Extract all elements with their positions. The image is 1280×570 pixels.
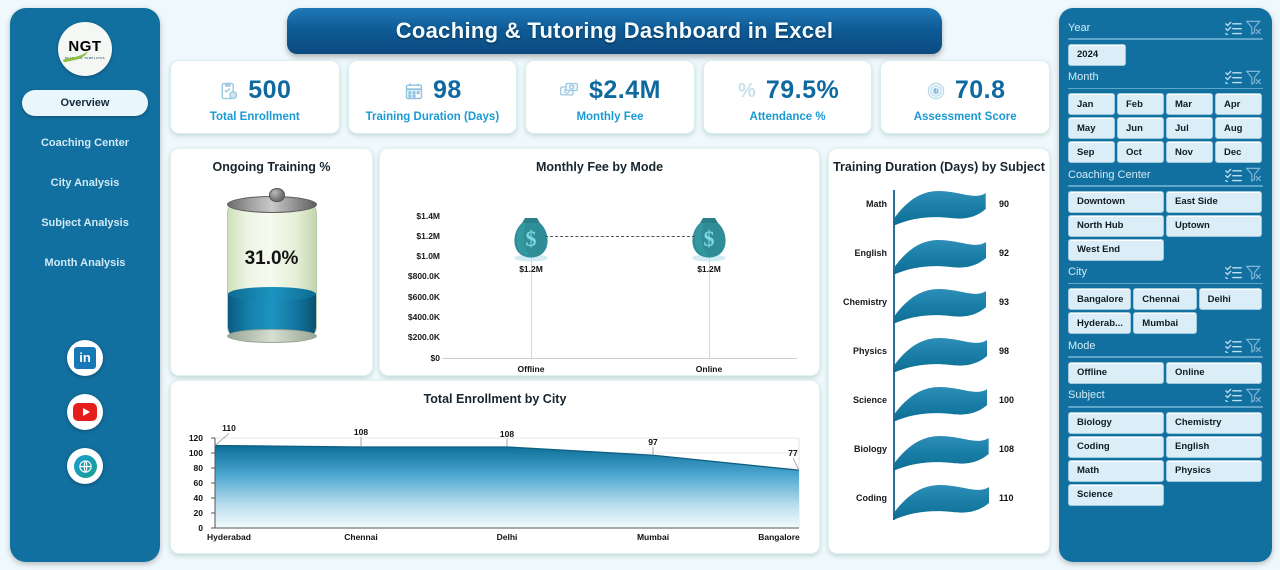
dashboard-title-bar: Coaching & Tutoring Dashboard in Excel xyxy=(287,8,942,54)
sidebar-item-coaching-center[interactable]: Coaching Center xyxy=(22,130,148,156)
page-title: Coaching & Tutoring Dashboard in Excel xyxy=(396,18,834,44)
chart-title: Ongoing Training % xyxy=(171,149,372,176)
clear-filter-icon[interactable] xyxy=(1243,264,1263,280)
y-axis-tick: 60 xyxy=(177,478,203,488)
clear-filter-icon[interactable] xyxy=(1243,167,1263,183)
city-area-chart: 020406080100120Hyderabad110Chennai108Del… xyxy=(171,408,821,548)
y-axis-tick: 0 xyxy=(177,523,203,533)
multi-select-icon[interactable] xyxy=(1223,264,1243,280)
slicer-option-mar[interactable]: Mar xyxy=(1166,93,1213,115)
sidebar-item-label: Month Analysis xyxy=(45,257,126,269)
logo-swoosh-icon xyxy=(61,45,89,62)
slicer-divider xyxy=(1068,356,1263,358)
slicer-option-delhi[interactable]: Delhi xyxy=(1199,288,1262,310)
kpi-label: Attendance % xyxy=(750,111,826,123)
data-label: 93 xyxy=(999,297,1009,307)
subject-row: Biology108 xyxy=(829,429,1051,475)
sidebar-item-city-analysis[interactable]: City Analysis xyxy=(22,170,148,196)
slicer-option-nov[interactable]: Nov xyxy=(1166,141,1213,163)
subject-row: Coding110 xyxy=(829,478,1051,524)
category-label: Biology xyxy=(854,444,887,454)
slicer-options: DowntownEast SideNorth HubUptownWest End xyxy=(1068,191,1263,261)
slicer-option-chennai[interactable]: Chennai xyxy=(1133,288,1196,310)
y-axis-tick: $800.0K xyxy=(408,271,440,281)
sidebar-item-month-analysis[interactable]: Month Analysis xyxy=(22,250,148,276)
y-axis-tick: $1.4M xyxy=(416,211,440,221)
data-label: 100 xyxy=(999,395,1014,405)
slicer-option-hyderab[interactable]: Hyderab... xyxy=(1068,312,1131,334)
slicer-divider xyxy=(1068,88,1263,90)
category-label: Coding xyxy=(856,493,887,503)
training-duration-by-subject-panel: Training Duration (Days) by Subject Math… xyxy=(828,148,1050,554)
kpi-value: 98 xyxy=(433,76,462,105)
clear-filter-icon[interactable] xyxy=(1243,20,1263,36)
slicer-header: Mode xyxy=(1068,336,1263,355)
kpi-value: 500 xyxy=(248,76,291,105)
slicer-option-aug[interactable]: Aug xyxy=(1215,117,1262,139)
chart-title: Monthly Fee by Mode xyxy=(380,149,819,176)
ribbon-bar xyxy=(893,383,987,423)
kpi-value: 79.5% xyxy=(766,76,839,105)
slicer-option-apr[interactable]: Apr xyxy=(1215,93,1262,115)
slicer-divider xyxy=(1068,406,1263,408)
category-label: Math xyxy=(866,199,887,209)
chart-title: Total Enrollment by City xyxy=(171,381,819,408)
linkedin-icon: in xyxy=(74,347,96,369)
sidebar: NGT NEXT GEN TEMPLATES Overview Coaching… xyxy=(10,8,160,562)
data-label: 110 xyxy=(999,493,1014,503)
slicer-option-jan[interactable]: Jan xyxy=(1068,93,1115,115)
slicer-title: Year xyxy=(1068,22,1223,34)
kpi-row: 500 Total Enrollment 98 Training Duratio… xyxy=(170,60,1050,134)
linkedin-button[interactable]: in xyxy=(67,340,103,376)
monthly-fee-chart: $1.4M$1.2M$1.0M$800.0K$600.0K$400.0K$200… xyxy=(380,176,821,366)
kpi-card-total-enrollment: 500 Total Enrollment xyxy=(170,60,340,134)
youtube-icon xyxy=(73,403,97,421)
x-axis-label: Hyderabad xyxy=(207,532,251,542)
kpi-label: Monthly Fee xyxy=(576,111,643,123)
slicer-title: Month xyxy=(1068,71,1223,83)
ongoing-training-panel: Ongoing Training % 31.0% xyxy=(170,148,373,376)
multi-select-icon[interactable] xyxy=(1223,387,1243,403)
y-axis-tick: $200.0K xyxy=(408,332,440,342)
category-label: Science xyxy=(853,395,887,405)
slicer-panel: Year2024MonthJanFebMarAprMayJunJulAugSep… xyxy=(1059,8,1272,562)
sidebar-item-label: City Analysis xyxy=(51,177,120,189)
ribbon-bar xyxy=(893,334,987,374)
slicer-options: JanFebMarAprMayJunJulAugSepOctNovDec xyxy=(1068,93,1263,163)
dashboard-root: NGT NEXT GEN TEMPLATES Overview Coaching… xyxy=(0,0,1280,570)
slicer-option-biology[interactable]: Biology xyxy=(1068,412,1164,434)
slicer-option-oct[interactable]: Oct xyxy=(1117,141,1164,163)
slicer-option-coding[interactable]: Coding xyxy=(1068,436,1164,458)
slicer-option-english[interactable]: English xyxy=(1166,436,1262,458)
multi-select-icon[interactable] xyxy=(1223,338,1243,354)
data-label: 108 xyxy=(500,429,514,439)
data-label: $1.2M xyxy=(519,264,543,274)
svg-text:$: $ xyxy=(526,226,537,251)
data-label: 110 xyxy=(222,423,236,433)
slicer-option-east-side[interactable]: East Side xyxy=(1166,191,1262,213)
kpi-value: 70.8 xyxy=(955,76,1006,105)
subject-row: Physics98 xyxy=(829,331,1051,377)
total-enrollment-by-city-panel: Total Enrollment by City 020406080100120… xyxy=(170,380,820,554)
slicer-header: City xyxy=(1068,263,1263,282)
kpi-label: Total Enrollment xyxy=(210,111,300,123)
y-axis-tick: 100 xyxy=(177,448,203,458)
data-label: 108 xyxy=(354,427,368,437)
clear-filter-icon[interactable] xyxy=(1243,338,1263,354)
slicer-title: Subject xyxy=(1068,389,1223,401)
chart-title: Training Duration (Days) by Subject xyxy=(829,149,1049,176)
multi-select-icon[interactable] xyxy=(1223,167,1243,183)
category-label: English xyxy=(854,248,887,258)
sidebar-item-label: Overview xyxy=(61,97,110,109)
data-label: 77 xyxy=(788,448,797,458)
kpi-card-monthly-fee: $2.4M Monthly Fee xyxy=(525,60,695,134)
calendar-icon xyxy=(403,80,425,102)
slicer-header: Year xyxy=(1068,18,1263,37)
series-line xyxy=(545,236,695,237)
website-button[interactable] xyxy=(67,448,103,484)
y-axis-tick: 20 xyxy=(177,508,203,518)
slicer-option-may[interactable]: May xyxy=(1068,117,1115,139)
percent-icon: % xyxy=(736,80,758,102)
ribbon-bar xyxy=(893,236,986,276)
slicer-title: Mode xyxy=(1068,340,1223,352)
multi-select-icon[interactable] xyxy=(1223,20,1243,36)
x-axis-label: Mumbai xyxy=(637,532,669,542)
ribbon-bar xyxy=(893,481,989,521)
kpi-label: Assessment Score xyxy=(914,111,1017,123)
youtube-button[interactable] xyxy=(67,394,103,430)
x-axis-label: Bangalore xyxy=(758,532,800,542)
slicer-option-jun[interactable]: Jun xyxy=(1117,117,1164,139)
kpi-card-training-duration: 98 Training Duration (Days) xyxy=(348,60,518,134)
slicer-option-math[interactable]: Math xyxy=(1068,460,1164,482)
data-label: 97 xyxy=(648,437,657,447)
slicer-divider xyxy=(1068,38,1263,40)
slicer-header: Month xyxy=(1068,68,1263,87)
gauge-value-label: 31.0% xyxy=(227,248,317,270)
slicer-header: Subject xyxy=(1068,386,1263,405)
cylinder-gauge: 31.0% xyxy=(227,194,317,342)
y-axis-tick: $0 xyxy=(431,353,440,363)
assessment-icon xyxy=(925,80,947,102)
monthly-fee-by-mode-panel: Monthly Fee by Mode $1.4M$1.2M$1.0M$800.… xyxy=(379,148,820,376)
slicer-options: 2024 xyxy=(1068,44,1263,66)
slicer-option-north-hub[interactable]: North Hub xyxy=(1068,215,1164,237)
money-icon xyxy=(559,80,581,102)
data-label: 108 xyxy=(999,444,1014,454)
y-axis-tick: 40 xyxy=(177,493,203,503)
slicer-options: BiologyChemistryCodingEnglishMathPhysics… xyxy=(1068,412,1263,506)
cylinder-knob-icon xyxy=(269,188,285,202)
y-axis-tick: $400.0K xyxy=(408,312,440,322)
x-axis-label: Online xyxy=(696,364,722,374)
x-axis-label: Chennai xyxy=(344,532,378,542)
slicer-option-chemistry[interactable]: Chemistry xyxy=(1166,412,1262,434)
slicer-option-offline[interactable]: Offline xyxy=(1068,362,1164,384)
y-axis-tick: $1.0M xyxy=(416,251,440,261)
clipboard-check-icon xyxy=(218,80,240,102)
slicer-option-sep[interactable]: Sep xyxy=(1068,141,1115,163)
subject-row: English92 xyxy=(829,233,1051,279)
y-axis-tick: 120 xyxy=(177,433,203,443)
x-axis-label: Delhi xyxy=(497,532,518,542)
sidebar-item-subject-analysis[interactable]: Subject Analysis xyxy=(22,210,148,236)
data-label: 98 xyxy=(999,346,1009,356)
sidebar-item-label: Subject Analysis xyxy=(41,217,129,229)
ribbon-bar xyxy=(893,187,986,227)
slicer-header: Coaching Center xyxy=(1068,165,1263,184)
x-axis-label: Offline xyxy=(518,364,545,374)
y-axis-tick: $600.0K xyxy=(408,292,440,302)
subject-row: Chemistry93 xyxy=(829,282,1051,328)
ribbon-bar xyxy=(893,285,986,325)
slicer-option-west-end[interactable]: West End xyxy=(1068,239,1164,261)
subject-row: Math90 xyxy=(829,184,1051,230)
sidebar-item-label: Coaching Center xyxy=(41,137,129,149)
slicer-option-online[interactable]: Online xyxy=(1166,362,1262,384)
slicer-options: OfflineOnline xyxy=(1068,362,1263,384)
sidebar-nav: Overview Coaching Center City Analysis S… xyxy=(10,90,160,290)
globe-icon xyxy=(74,455,97,478)
ribbon-bar xyxy=(893,432,989,472)
kpi-value: $2.4M xyxy=(589,76,661,105)
category-label: Physics xyxy=(853,346,887,356)
slicer-option-mumbai[interactable]: Mumbai xyxy=(1133,312,1196,334)
clear-filter-icon[interactable] xyxy=(1243,69,1263,85)
slicer-divider xyxy=(1068,283,1263,285)
data-label: 92 xyxy=(999,248,1009,258)
clear-filter-icon[interactable] xyxy=(1243,387,1263,403)
category-label: Chemistry xyxy=(843,297,887,307)
svg-text:$: $ xyxy=(704,226,715,251)
slicer-options: BangaloreChennaiDelhiHyderab...Mumbai xyxy=(1068,288,1263,334)
slicer-option-feb[interactable]: Feb xyxy=(1117,93,1164,115)
slicer-option-physics[interactable]: Physics xyxy=(1166,460,1262,482)
slicer-option-uptown[interactable]: Uptown xyxy=(1166,215,1262,237)
slicer-option-downtown[interactable]: Downtown xyxy=(1068,191,1164,213)
multi-select-icon[interactable] xyxy=(1223,69,1243,85)
subject-ribbon-chart: Math90English92Chemistry93Physics98Scien… xyxy=(829,176,1051,531)
logo: NGT NEXT GEN TEMPLATES xyxy=(58,22,112,76)
data-label: 90 xyxy=(999,199,1009,209)
kpi-card-assessment-score: 70.8 Assessment Score xyxy=(880,60,1050,134)
kpi-label: Training Duration (Days) xyxy=(366,111,500,123)
slicer-option-dec[interactable]: Dec xyxy=(1215,141,1262,163)
slicer-option-2024[interactable]: 2024 xyxy=(1068,44,1126,66)
slicer-option-science[interactable]: Science xyxy=(1068,484,1164,506)
slicer-divider xyxy=(1068,185,1263,187)
sidebar-item-overview[interactable]: Overview xyxy=(22,90,148,116)
y-axis-tick: 80 xyxy=(177,463,203,473)
slicer-title: City xyxy=(1068,266,1223,278)
kpi-card-attendance: % 79.5% Attendance % xyxy=(703,60,873,134)
slicer-title: Coaching Center xyxy=(1068,169,1223,181)
social-links: in xyxy=(10,340,160,502)
y-axis-tick: $1.2M xyxy=(416,231,440,241)
data-label: $1.2M xyxy=(697,264,721,274)
subject-row: Science100 xyxy=(829,380,1051,426)
slicer-option-jul[interactable]: Jul xyxy=(1166,117,1213,139)
slicer-option-bangalore[interactable]: Bangalore xyxy=(1068,288,1131,310)
